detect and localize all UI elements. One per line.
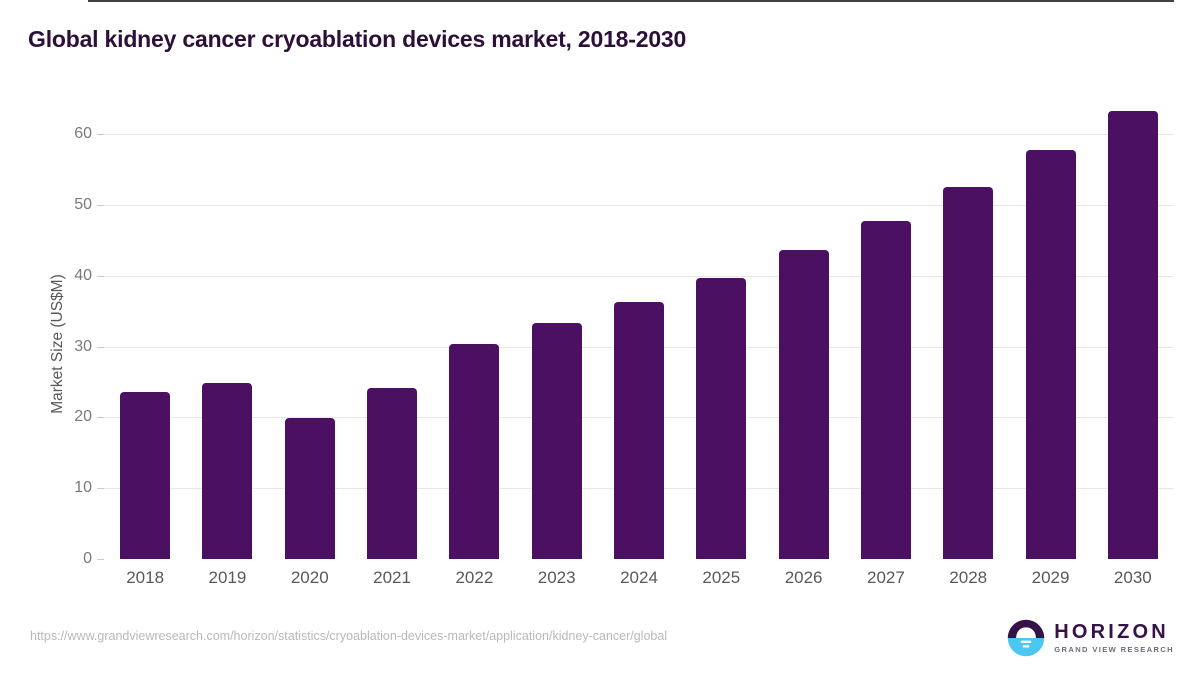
x-tick-label: 2019 (209, 568, 247, 588)
y-tick-mark (97, 417, 104, 418)
gridline (104, 276, 1174, 277)
bar[interactable] (1108, 111, 1158, 559)
y-tick-mark (97, 134, 104, 135)
chart-plot-area: Market Size (US$M) 0102030405060 2018201… (0, 0, 1200, 675)
y-tick-label: 40 (48, 267, 92, 285)
y-tick-mark (97, 559, 104, 560)
bar[interactable] (367, 388, 417, 559)
bar[interactable] (285, 418, 335, 559)
y-tick-label: 20 (48, 408, 92, 426)
x-axis-line (88, 0, 1174, 2)
x-tick-label: 2022 (455, 568, 493, 588)
x-tick-label: 2028 (949, 568, 987, 588)
chart-card: Global kidney cancer cryoablation device… (0, 0, 1200, 675)
bar[interactable] (449, 344, 499, 559)
horizon-sunrise-circle-icon (1007, 619, 1045, 657)
x-tick-label: 2029 (1032, 568, 1070, 588)
gridline (104, 205, 1174, 206)
x-tick-label: 2021 (373, 568, 411, 588)
x-tick-label: 2027 (867, 568, 905, 588)
x-tick-label: 2018 (126, 568, 164, 588)
bar[interactable] (779, 250, 829, 559)
y-tick-mark (97, 276, 104, 277)
bar[interactable] (614, 302, 664, 559)
x-tick-label: 2023 (538, 568, 576, 588)
bar[interactable] (120, 392, 170, 559)
bar[interactable] (943, 187, 993, 559)
y-tick-label: 50 (48, 196, 92, 214)
y-tick-label: 60 (48, 125, 92, 143)
y-tick-mark (97, 347, 104, 348)
brand-name: HORIZON (1054, 622, 1174, 642)
x-tick-label: 2026 (785, 568, 823, 588)
bar[interactable] (861, 221, 911, 559)
y-tick-mark (97, 205, 104, 206)
bar[interactable] (532, 323, 582, 559)
y-tick-label: 30 (48, 338, 92, 356)
x-tick-label: 2025 (702, 568, 740, 588)
brand-text: HORIZON GRAND VIEW RESEARCH (1054, 622, 1174, 654)
x-tick-label: 2020 (291, 568, 329, 588)
x-tick-label: 2024 (620, 568, 658, 588)
bar[interactable] (1026, 150, 1076, 559)
y-tick-label: 0 (48, 550, 92, 568)
bar[interactable] (696, 278, 746, 559)
y-tick-mark (97, 488, 104, 489)
gridline (104, 134, 1174, 135)
brand-tagline: GRAND VIEW RESEARCH (1054, 646, 1174, 654)
bar[interactable] (202, 383, 252, 559)
x-tick-label: 2030 (1114, 568, 1152, 588)
y-tick-label: 10 (48, 479, 92, 497)
brand-logo[interactable]: HORIZON GRAND VIEW RESEARCH (1007, 616, 1174, 660)
source-url-label[interactable]: https://www.grandviewresearch.com/horizo… (30, 629, 667, 643)
